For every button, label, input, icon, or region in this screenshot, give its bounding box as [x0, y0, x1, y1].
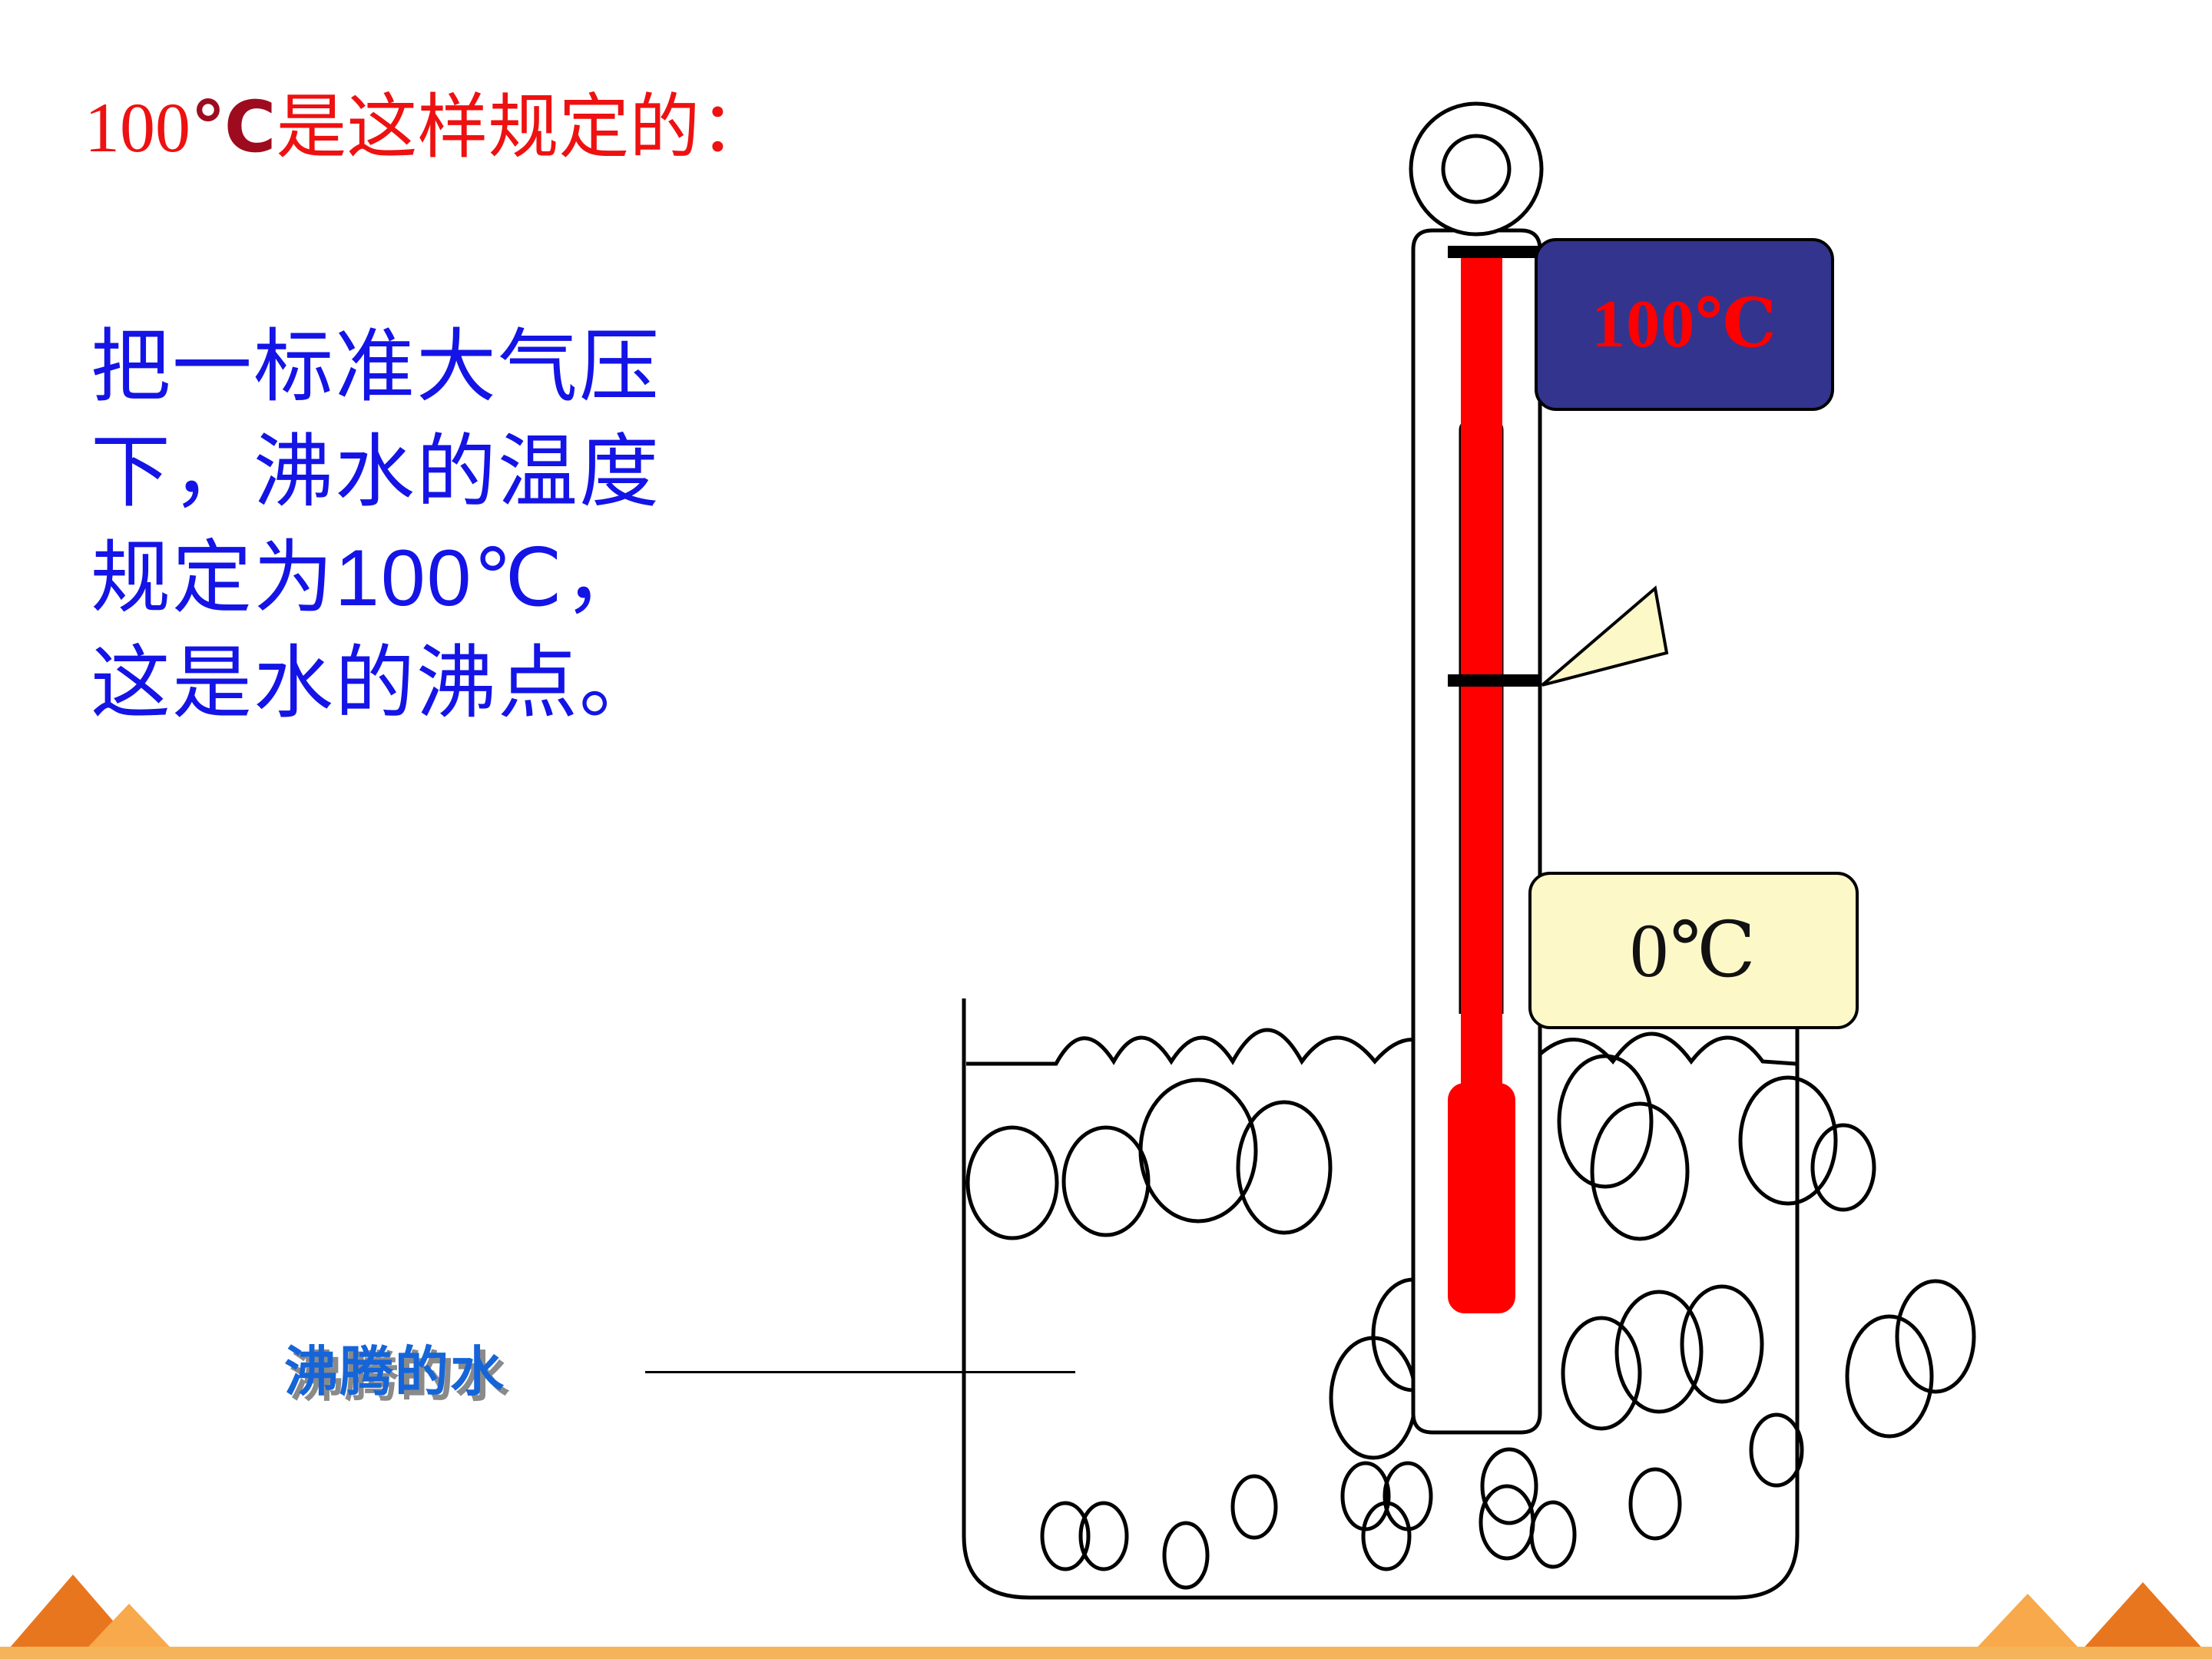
- mercury-column: [1461, 250, 1502, 1087]
- callout-100c: 100℃: [1535, 238, 1834, 411]
- deco-bar: [0, 1647, 2212, 1659]
- tick-mark-0: [1448, 674, 1540, 687]
- slide-canvas: 100℃是这样规定的： 把一标准大气压 下，沸水的温度 规定为100℃， 这是水…: [0, 0, 2212, 1659]
- title-rest: 是这样规定的：: [276, 88, 770, 167]
- callout-100c-text: 100℃: [1591, 291, 1777, 359]
- body-line-3: 规定为100℃，: [91, 526, 997, 631]
- boiling-water-label: 沸腾的水: [284, 1329, 505, 1406]
- beaker-outline: [964, 998, 1797, 1598]
- tick-mark-100: [1448, 246, 1540, 258]
- page-title: 100℃是这样规定的：: [84, 92, 770, 163]
- thermometer-ring-inner: [1443, 136, 1509, 202]
- callout-0-pointer: [1542, 588, 1667, 685]
- bottom-decoration: [0, 1567, 2212, 1659]
- water-surface-wave: [966, 1030, 1796, 1064]
- title-number: 100: [84, 88, 190, 167]
- body-line-1: 把一标准大气压: [91, 315, 997, 420]
- callout-0c-text: 0℃: [1630, 912, 1757, 989]
- body-paragraph: 把一标准大气压 下，沸水的温度 规定为100℃， 这是水的沸点。: [91, 315, 997, 737]
- callout-0c: 0℃: [1528, 872, 1859, 1029]
- body-line-2: 下，沸水的温度: [91, 420, 997, 525]
- title-degree-symbol: ℃: [190, 88, 276, 167]
- mercury-bulb: [1448, 1083, 1515, 1313]
- body-line-4: 这是水的沸点。: [91, 631, 997, 737]
